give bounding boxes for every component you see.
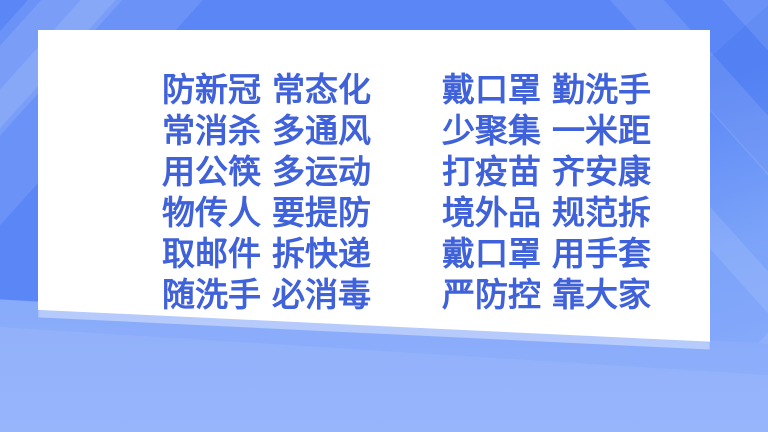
slogan-cell-left: 取邮件拆快递 xyxy=(94,233,374,274)
slogan-phrase: 靠大家 xyxy=(552,275,651,314)
slogan-cell-right: 少聚集一米距 xyxy=(374,110,654,151)
slogan-phrase: 拆快递 xyxy=(272,234,371,273)
slogan-phrase: 用手套 xyxy=(552,234,651,273)
slogan-phrase: 规范拆 xyxy=(552,193,651,232)
slogan-phrase: 严防控 xyxy=(442,275,541,314)
slogan-phrase: 用公筷 xyxy=(162,152,261,191)
poster-canvas: 防新冠常态化 戴口罩勤洗手 常消杀多通风 少聚集一米距 用公筷多运动 打疫苗齐安… xyxy=(0,0,768,432)
slogan-row: 物传人要提防 境外品规范拆 xyxy=(38,192,710,233)
slogan-phrase: 取邮件 xyxy=(162,234,261,273)
slogan-cell-right: 打疫苗齐安康 xyxy=(374,151,654,192)
slogan-row: 用公筷多运动 打疫苗齐安康 xyxy=(38,151,710,192)
slogan-cell-right: 戴口罩勤洗手 xyxy=(374,69,654,110)
slogan-cell-right: 戴口罩用手套 xyxy=(374,233,654,274)
slogan-phrase: 勤洗手 xyxy=(552,70,651,109)
slogan-phrase: 多通风 xyxy=(272,111,371,150)
slogan-phrase: 一米距 xyxy=(552,111,651,150)
slogan-phrase: 常态化 xyxy=(272,70,371,109)
slogan-phrase: 物传人 xyxy=(162,193,261,232)
slogan-phrase: 少聚集 xyxy=(442,111,541,150)
slogan-phrase: 多运动 xyxy=(272,152,371,191)
slogan-phrase: 必消毒 xyxy=(272,275,371,314)
slogan-phrase: 打疫苗 xyxy=(442,152,541,191)
slogan-phrase: 齐安康 xyxy=(552,152,651,191)
slogan-phrase: 防新冠 xyxy=(162,70,261,109)
slogan-cell-right: 严防控靠大家 xyxy=(374,274,654,315)
slogan-grid: 防新冠常态化 戴口罩勤洗手 常消杀多通风 少聚集一米距 用公筷多运动 打疫苗齐安… xyxy=(38,30,710,348)
slogan-cell-right: 境外品规范拆 xyxy=(374,192,654,233)
slogan-phrase: 戴口罩 xyxy=(442,234,541,273)
slogan-phrase: 随洗手 xyxy=(162,275,261,314)
slogan-cell-left: 常消杀多通风 xyxy=(94,110,374,151)
slogan-cell-left: 防新冠常态化 xyxy=(94,69,374,110)
slogan-cell-left: 随洗手必消毒 xyxy=(94,274,374,315)
slogan-row: 随洗手必消毒 严防控靠大家 xyxy=(38,274,710,315)
slogan-phrase: 戴口罩 xyxy=(442,70,541,109)
slogan-phrase: 境外品 xyxy=(442,193,541,232)
slogan-cell-left: 用公筷多运动 xyxy=(94,151,374,192)
slogan-phrase: 要提防 xyxy=(272,193,371,232)
slogan-row: 常消杀多通风 少聚集一米距 xyxy=(38,110,710,151)
slogan-row: 取邮件拆快递 戴口罩用手套 xyxy=(38,233,710,274)
slogan-cell-left: 物传人要提防 xyxy=(94,192,374,233)
slogan-row: 防新冠常态化 戴口罩勤洗手 xyxy=(38,69,710,110)
slogan-phrase: 常消杀 xyxy=(162,111,261,150)
